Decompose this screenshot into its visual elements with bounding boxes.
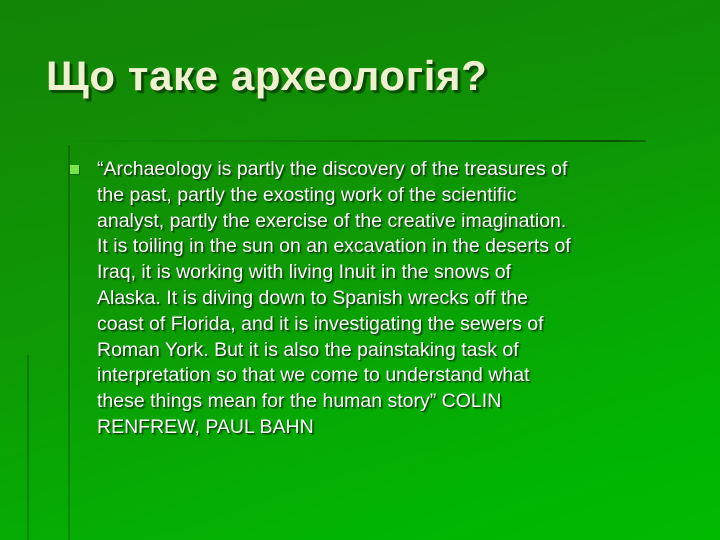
slide-title: Що таке археологія?	[46, 54, 686, 98]
square-bullet-icon	[70, 165, 79, 174]
presentation-slide: Що таке археологія? “Archaeology is part…	[0, 0, 720, 540]
title-divider-rule	[68, 140, 646, 142]
bullet-item-text: “Archaeology is partly the discovery of …	[97, 157, 690, 441]
bullet-list: “Archaeology is partly the discovery of …	[70, 157, 690, 441]
decorative-vertical-rule-outer	[27, 355, 29, 540]
